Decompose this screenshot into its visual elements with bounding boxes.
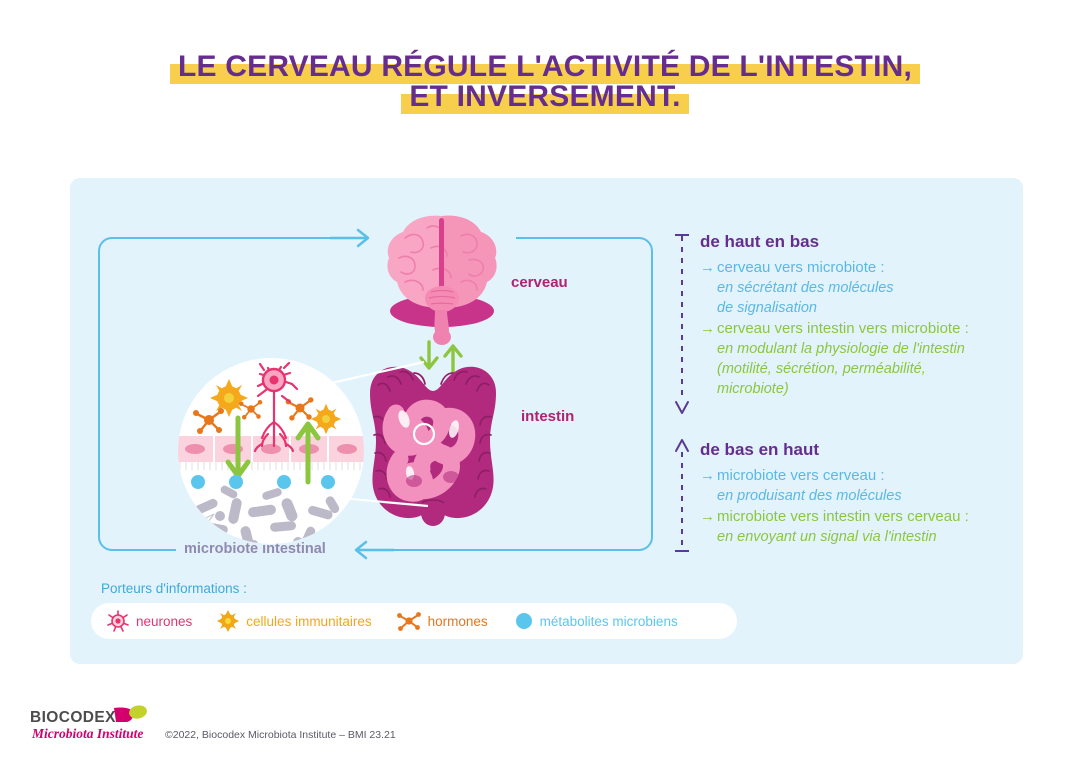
legend-label: métabolites microbiens [540, 614, 678, 629]
item-sub: en modulant la physiologie de l'intestin [717, 341, 965, 357]
arrow-right-icon: → [700, 319, 717, 338]
neuron-icon [105, 608, 131, 634]
item-lead: microbiote vers intestin vers cerveau : [717, 508, 969, 525]
direction-rail-down [672, 232, 692, 418]
brand-subtitle: Microbiota Institute [31, 726, 143, 741]
legend-item-neurones: neurones [105, 608, 192, 634]
legend-title: Porteurs d'informations : [101, 581, 247, 596]
legend-label: cellules immunitaires [246, 614, 371, 629]
legend-bar: neurones cellules immunitaires [91, 603, 737, 639]
metabolite-icon [514, 611, 534, 631]
item-lead: cerveau vers microbiote : [717, 259, 885, 276]
item-sub: microbiote) [717, 381, 789, 397]
item-lead: microbiote vers cerveau : [717, 467, 885, 484]
arrow-right-icon: → [700, 507, 717, 526]
hormone-icon [396, 609, 422, 633]
title-text-2: ET INVERSEMENT. [409, 80, 680, 113]
item-sub: en envoyant un signal via l'intestin [717, 529, 937, 545]
list-item: → cerveau vers microbiote : en sécrétant… [700, 258, 1020, 318]
brain-illustration [375, 212, 509, 347]
list-item: → cerveau vers intestin vers microbiote … [700, 319, 1020, 399]
list-item: → microbiote vers intestin vers cerveau … [700, 507, 1030, 547]
gut-label: intestin [521, 408, 574, 425]
title-text-1: LE CERVEAU RÉGULE L'ACTIVITÉ DE L'INTEST… [178, 50, 912, 83]
infographic-root: LE CERVEAU RÉGULE L'ACTIVITÉ DE L'INTEST… [0, 0, 1090, 765]
copyright-text: ©2022, Biocodex Microbiota Institute – B… [165, 729, 396, 741]
text-block-top-down: de haut en bas → cerveau vers microbiote… [700, 232, 1020, 400]
brain-label: cerveau [511, 274, 568, 291]
title-line-2: ET INVERSEMENT. [409, 82, 680, 112]
block-title: de bas en haut [700, 440, 1030, 460]
item-sub: en sécrétant des molécules [717, 280, 894, 296]
direction-rail-up [672, 438, 692, 556]
legend-item-metabolites-microbiens: métabolites microbiens [514, 611, 678, 631]
item-sub: de signalisation [717, 300, 817, 316]
legend-item-hormones: hormones [396, 609, 488, 633]
item-lead: cerveau vers intestin vers microbiote : [717, 320, 969, 337]
legend-label: neurones [136, 614, 192, 629]
legend-label: hormones [428, 614, 488, 629]
block-title: de haut en bas [700, 232, 1020, 252]
item-sub: en produisant des molécules [717, 488, 902, 504]
arrow-right-icon: → [700, 258, 717, 277]
list-item: → microbiote vers cerveau : en produisan… [700, 466, 1030, 506]
arrow-right-icon: → [700, 466, 717, 485]
microbiota-zoom-circle [176, 356, 366, 546]
item-sub: (motilité, sécrétion, perméabilité, [717, 361, 926, 377]
brand-name: BIOCODEX [30, 709, 116, 726]
page-title: LE CERVEAU RÉGULE L'ACTIVITÉ DE L'INTEST… [0, 52, 1090, 112]
title-line-1: LE CERVEAU RÉGULE L'ACTIVITÉ DE L'INTEST… [178, 52, 912, 82]
biocodex-logo: BIOCODEX Microbiota Institute [30, 704, 150, 744]
loop-arrow-right-icon [330, 226, 372, 250]
text-block-bottom-up: de bas en haut → microbiote vers cerveau… [700, 440, 1030, 548]
immune-cell-icon [216, 609, 240, 633]
legend-item-cellules-immunitaires: cellules immunitaires [216, 609, 371, 633]
